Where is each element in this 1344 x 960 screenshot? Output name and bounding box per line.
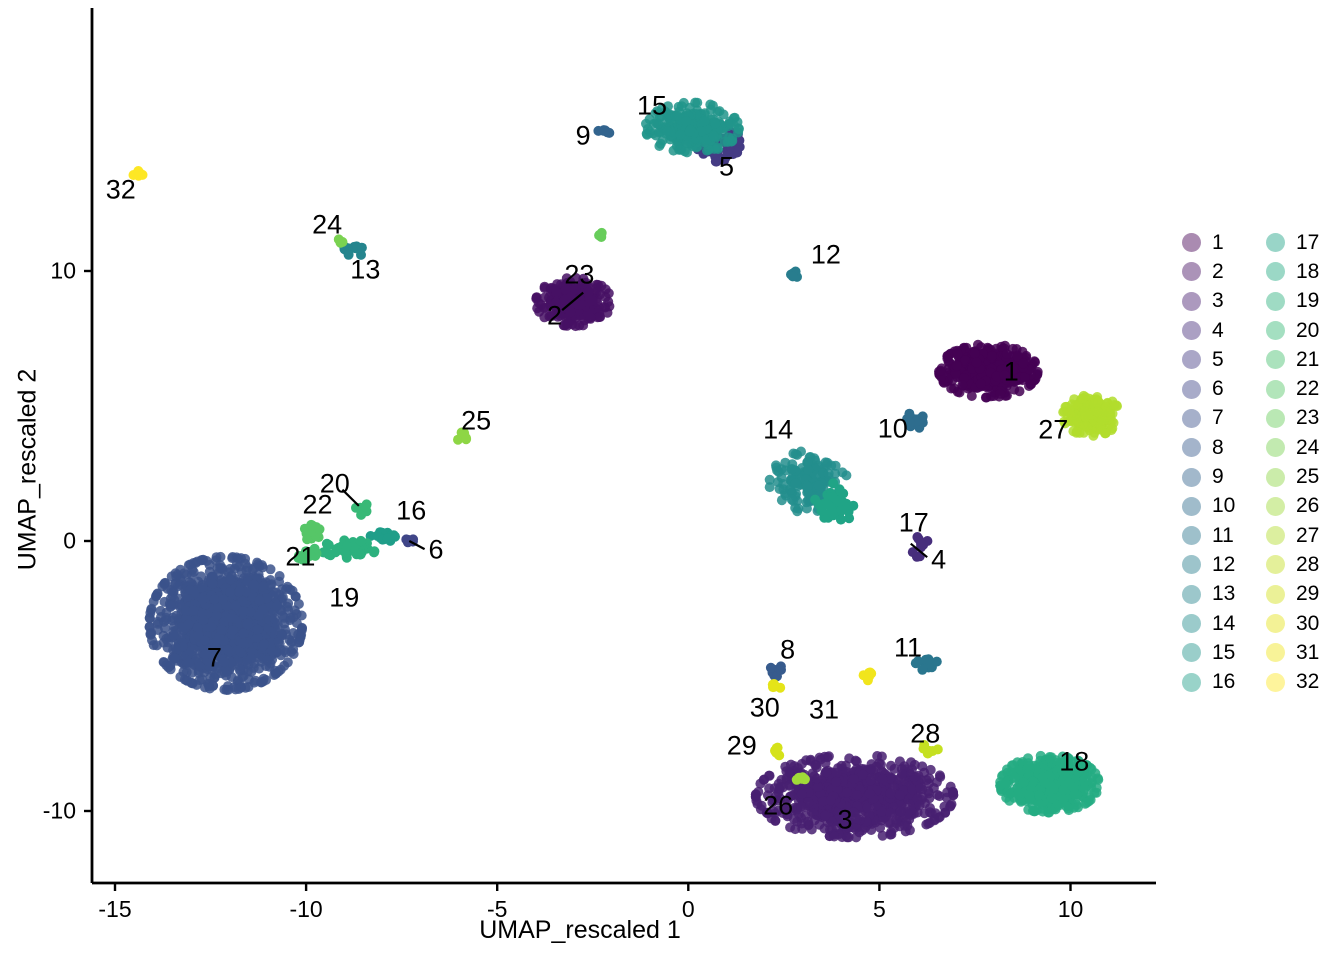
legend-swatch-halo-21 — [1266, 350, 1285, 369]
x-tick-label: -5 — [487, 896, 507, 923]
legend-item-12[interactable]: 12 — [1182, 550, 1240, 579]
legend-swatch-halo-2 — [1182, 262, 1201, 281]
legend-swatch-halo-13 — [1182, 585, 1201, 604]
legend-swatch-halo-24 — [1266, 438, 1285, 457]
legend-label-14: 14 — [1212, 612, 1240, 636]
cluster-label-21: 21 — [285, 544, 315, 571]
cluster-label-3: 3 — [837, 807, 852, 834]
legend-swatch-halo-15 — [1182, 643, 1201, 662]
legend-swatch-halo-32 — [1266, 673, 1285, 692]
cluster-label-15: 15 — [637, 93, 667, 120]
cluster-label-5: 5 — [719, 154, 734, 181]
scatter-plot-svg — [0, 0, 1344, 960]
legend-swatch-halo-6 — [1182, 380, 1201, 399]
legend-label-13: 13 — [1212, 582, 1240, 606]
legend-swatch-halo-29 — [1266, 585, 1285, 604]
plot-panel — [0, 0, 1344, 960]
legend-swatch-halo-23 — [1266, 409, 1285, 428]
legend-swatch-30 — [1268, 616, 1283, 631]
legend-label-15: 15 — [1212, 641, 1240, 665]
legend-swatch-19 — [1268, 294, 1283, 309]
cluster-12 — [786, 267, 802, 282]
legend-label-18: 18 — [1296, 260, 1324, 284]
legend-swatch-22 — [1268, 382, 1283, 397]
cluster-label-18: 18 — [1059, 749, 1089, 776]
legend-label-11: 11 — [1212, 524, 1240, 548]
legend-label-20: 20 — [1296, 319, 1324, 343]
legend-swatch-6 — [1184, 382, 1199, 397]
cluster-7 — [145, 552, 307, 695]
legend-swatch-26 — [1268, 499, 1283, 514]
y-axis-title: UMAP_rescaled 2 — [14, 210, 43, 730]
legend-swatch-halo-30 — [1266, 614, 1285, 633]
y-tick-label: 0 — [0, 528, 76, 555]
legend-swatch-halo-4 — [1182, 321, 1201, 340]
legend-item-4[interactable]: 4 — [1182, 316, 1240, 345]
cluster-label-25: 25 — [461, 407, 491, 434]
legend-swatch-1 — [1184, 235, 1199, 250]
cluster-label-12: 12 — [811, 241, 841, 268]
legend-label-26: 26 — [1296, 494, 1324, 518]
legend-label-10: 10 — [1212, 494, 1240, 518]
legend-item-32[interactable]: 32 — [1266, 667, 1324, 696]
x-tick-label: 0 — [682, 896, 695, 923]
cluster-label-7: 7 — [207, 645, 222, 672]
cluster-label-30: 30 — [750, 695, 780, 722]
legend-swatch-halo-3 — [1182, 292, 1201, 311]
cluster-label-2: 2 — [547, 302, 562, 329]
legend-swatch-halo-16 — [1182, 673, 1201, 692]
legend-label-12: 12 — [1212, 553, 1240, 577]
legend-swatch-17 — [1268, 235, 1283, 250]
legend-label-25: 25 — [1296, 465, 1324, 489]
cluster-label-22: 22 — [303, 491, 333, 518]
legend-label-29: 29 — [1296, 582, 1324, 606]
legend-column-right: 17181920212223242526272829303132 — [1266, 228, 1324, 697]
legend-swatch-16 — [1184, 675, 1199, 690]
legend-item-8[interactable]: 8 — [1182, 433, 1240, 462]
y-tick-label: -10 — [0, 798, 76, 825]
legend-swatch-18 — [1268, 264, 1283, 279]
legend-swatch-halo-5 — [1182, 350, 1201, 369]
legend-item-14[interactable]: 14 — [1182, 609, 1240, 638]
legend-swatch-27 — [1268, 528, 1283, 543]
legend-item-2[interactable]: 2 — [1182, 257, 1240, 286]
legend-label-31: 31 — [1296, 641, 1324, 665]
legend-label-30: 30 — [1296, 612, 1324, 636]
legend-item-10[interactable]: 10 — [1182, 492, 1240, 521]
legend-item-15[interactable]: 15 — [1182, 638, 1240, 667]
legend-label-8: 8 — [1212, 436, 1240, 460]
legend-label-16: 16 — [1212, 670, 1240, 694]
legend-swatch-12 — [1184, 557, 1199, 572]
cluster-label-19: 19 — [329, 584, 359, 611]
cluster-label-28: 28 — [910, 721, 940, 748]
cluster-label-4: 4 — [931, 546, 946, 573]
legend-label-24: 24 — [1296, 436, 1324, 460]
legend-swatch-32 — [1268, 675, 1283, 690]
legend-item-22[interactable]: 22 — [1266, 374, 1324, 403]
legend-label-7: 7 — [1212, 406, 1240, 430]
legend-swatch-halo-11 — [1182, 526, 1201, 545]
cluster-label-23: 23 — [564, 262, 594, 289]
legend-label-3: 3 — [1212, 289, 1240, 313]
legend-label-9: 9 — [1212, 465, 1240, 489]
legend-swatch-8 — [1184, 440, 1199, 455]
legend-swatch-halo-18 — [1266, 262, 1285, 281]
cluster-29 — [770, 743, 784, 761]
cluster-31 — [859, 668, 877, 686]
legend-swatch-halo-22 — [1266, 380, 1285, 399]
chart-root: UMAP_rescaled 1 UMAP_rescaled 2 -15-10-5… — [0, 0, 1344, 960]
legend-item-6[interactable]: 6 — [1182, 374, 1240, 403]
legend-item-18[interactable]: 18 — [1266, 257, 1324, 286]
cluster-label-10: 10 — [878, 415, 908, 442]
legend-swatch-3 — [1184, 294, 1199, 309]
legend-item-7[interactable]: 7 — [1182, 404, 1240, 433]
legend-item-3[interactable]: 3 — [1182, 287, 1240, 316]
legend-swatch-halo-31 — [1266, 643, 1285, 662]
legend-label-1: 1 — [1212, 231, 1240, 255]
legend: 12345678910111213141516 1718192021222324… — [1182, 228, 1324, 697]
legend-item-17[interactable]: 17 — [1266, 228, 1324, 257]
legend-swatch-20 — [1268, 323, 1283, 338]
legend-item-30[interactable]: 30 — [1266, 609, 1324, 638]
x-axis-title: UMAP_rescaled 1 — [0, 916, 1160, 945]
legend-swatch-halo-17 — [1266, 233, 1285, 252]
legend-item-19[interactable]: 19 — [1266, 287, 1324, 316]
x-tick-label: 5 — [873, 896, 886, 923]
x-tick-label: -15 — [98, 896, 131, 923]
legend-item-13[interactable]: 13 — [1182, 580, 1240, 609]
legend-item-24[interactable]: 24 — [1266, 433, 1324, 462]
legend-swatch-5 — [1184, 352, 1199, 367]
legend-swatch-halo-14 — [1182, 614, 1201, 633]
legend-swatch-24 — [1268, 440, 1283, 455]
legend-item-16[interactable]: 16 — [1182, 667, 1240, 696]
legend-swatch-halo-7 — [1182, 409, 1201, 428]
legend-label-32: 32 — [1296, 670, 1324, 694]
legend-label-5: 5 — [1212, 348, 1240, 372]
legend-label-28: 28 — [1296, 553, 1324, 577]
legend-label-19: 19 — [1296, 289, 1324, 313]
cluster-label-29: 29 — [727, 733, 757, 760]
cluster-label-13: 13 — [350, 256, 380, 283]
legend-swatch-halo-1 — [1182, 233, 1201, 252]
cluster-19 — [318, 535, 379, 562]
cluster-label-26: 26 — [763, 792, 793, 819]
legend-swatch-halo-19 — [1266, 292, 1285, 311]
legend-swatch-9 — [1184, 470, 1199, 485]
x-tick-label: -10 — [289, 896, 322, 923]
legend-swatch-halo-10 — [1182, 497, 1201, 516]
legend-item-1[interactable]: 1 — [1182, 228, 1240, 257]
cluster-23 — [594, 228, 607, 242]
legend-item-26[interactable]: 26 — [1266, 492, 1324, 521]
legend-item-21[interactable]: 21 — [1266, 345, 1324, 374]
legend-column-left: 12345678910111213141516 — [1182, 228, 1240, 697]
legend-swatch-halo-28 — [1266, 555, 1285, 574]
cluster-label-8: 8 — [780, 637, 795, 664]
legend-swatch-23 — [1268, 411, 1283, 426]
legend-swatch-halo-20 — [1266, 321, 1285, 340]
cluster-label-6: 6 — [429, 537, 444, 564]
cluster-1 — [934, 340, 1043, 403]
legend-label-21: 21 — [1296, 348, 1324, 372]
cluster-label-17: 17 — [899, 510, 929, 537]
cluster-label-27: 27 — [1038, 417, 1068, 444]
legend-item-28[interactable]: 28 — [1266, 550, 1324, 579]
legend-swatch-10 — [1184, 499, 1199, 514]
legend-swatch-halo-26 — [1266, 497, 1285, 516]
legend-swatch-4 — [1184, 323, 1199, 338]
cluster-label-14: 14 — [763, 417, 793, 444]
legend-item-23[interactable]: 23 — [1266, 404, 1324, 433]
legend-swatch-25 — [1268, 470, 1283, 485]
cluster-label-9: 9 — [576, 123, 591, 150]
cluster-9 — [593, 125, 614, 138]
legend-swatch-15 — [1184, 645, 1199, 660]
legend-item-5[interactable]: 5 — [1182, 345, 1240, 374]
legend-item-9[interactable]: 9 — [1182, 462, 1240, 491]
legend-item-20[interactable]: 20 — [1266, 316, 1324, 345]
x-tick-label: 10 — [1058, 896, 1084, 923]
cluster-label-32: 32 — [106, 177, 136, 204]
axis-lines-layer — [84, 8, 1156, 891]
legend-label-27: 27 — [1296, 524, 1324, 548]
legend-swatch-13 — [1184, 587, 1199, 602]
cluster-22 — [300, 520, 325, 544]
legend-swatch-28 — [1268, 557, 1283, 572]
cluster-label-11: 11 — [894, 634, 922, 661]
legend-label-2: 2 — [1212, 260, 1240, 284]
legend-item-29[interactable]: 29 — [1266, 580, 1324, 609]
legend-swatch-halo-9 — [1182, 468, 1201, 487]
legend-swatch-29 — [1268, 587, 1283, 602]
y-tick-label: 10 — [0, 258, 76, 285]
cluster-label-1: 1 — [1004, 359, 1019, 386]
legend-item-25[interactable]: 25 — [1266, 462, 1324, 491]
legend-swatch-14 — [1184, 616, 1199, 631]
data-points-layer — [129, 98, 1123, 843]
legend-item-31[interactable]: 31 — [1266, 638, 1324, 667]
legend-item-27[interactable]: 27 — [1266, 521, 1324, 550]
legend-label-4: 4 — [1212, 319, 1240, 343]
legend-label-6: 6 — [1212, 377, 1240, 401]
legend-swatch-31 — [1268, 645, 1283, 660]
cluster-label-31: 31 — [809, 696, 839, 723]
legend-swatch-halo-8 — [1182, 438, 1201, 457]
legend-swatch-21 — [1268, 352, 1283, 367]
legend-swatch-halo-12 — [1182, 555, 1201, 574]
cluster-label-24: 24 — [312, 212, 342, 239]
legend-item-11[interactable]: 11 — [1182, 521, 1240, 550]
legend-swatch-halo-25 — [1266, 468, 1285, 487]
legend-label-17: 17 — [1296, 231, 1324, 255]
legend-label-22: 22 — [1296, 377, 1324, 401]
cluster-30 — [768, 679, 785, 693]
legend-swatch-11 — [1184, 528, 1199, 543]
legend-swatch-2 — [1184, 264, 1199, 279]
legend-swatch-halo-27 — [1266, 526, 1285, 545]
legend-label-23: 23 — [1296, 406, 1324, 430]
cluster-label-16: 16 — [396, 498, 426, 525]
legend-swatch-7 — [1184, 411, 1199, 426]
